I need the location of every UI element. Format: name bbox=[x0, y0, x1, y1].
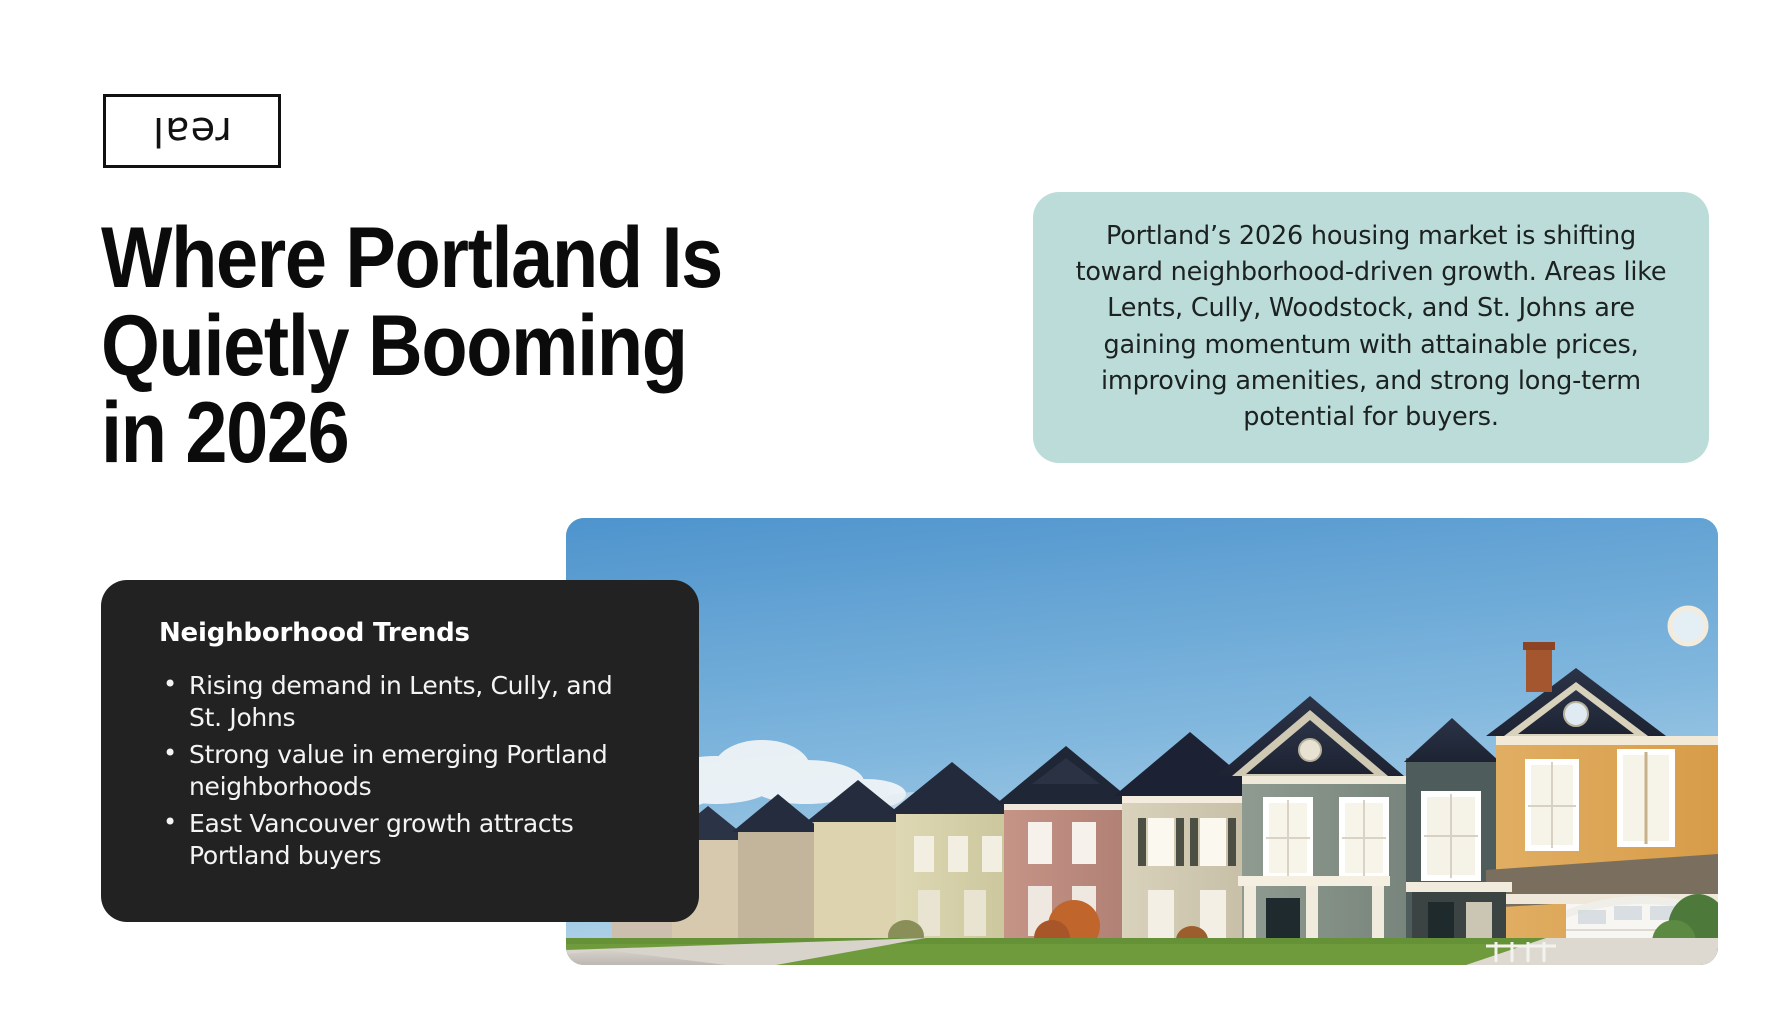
trends-bullet-list: Rising demand in Lents, Cully, and St. J… bbox=[145, 670, 655, 871]
brand-logo: real bbox=[103, 94, 281, 168]
neighborhood-trends-card: Neighborhood Trends Rising demand in Len… bbox=[101, 580, 699, 922]
list-item: Rising demand in Lents, Cully, and St. J… bbox=[189, 670, 619, 733]
headline-line-3: in 2026 bbox=[101, 390, 787, 478]
headline-line-1: Where Portland Is bbox=[101, 215, 787, 303]
trends-card-title: Neighborhood Trends bbox=[159, 618, 655, 648]
headline-line-2: Quietly Booming bbox=[101, 303, 787, 391]
list-item: Strong value in emerging Portland neighb… bbox=[189, 739, 619, 802]
neighborhood-photo-illustration bbox=[566, 518, 1718, 965]
market-summary-callout: Portland’s 2026 housing market is shifti… bbox=[1033, 192, 1709, 463]
slide-canvas: real Where Portland Is Quietly Booming i… bbox=[0, 0, 1792, 1024]
page-title: Where Portland Is Quietly Booming in 202… bbox=[101, 215, 787, 478]
list-item: East Vancouver growth attracts Portland … bbox=[189, 808, 619, 871]
market-summary-text: Portland’s 2026 housing market is shifti… bbox=[1063, 218, 1679, 435]
neighborhood-photo bbox=[566, 518, 1718, 965]
brand-logo-text: real bbox=[152, 111, 232, 151]
